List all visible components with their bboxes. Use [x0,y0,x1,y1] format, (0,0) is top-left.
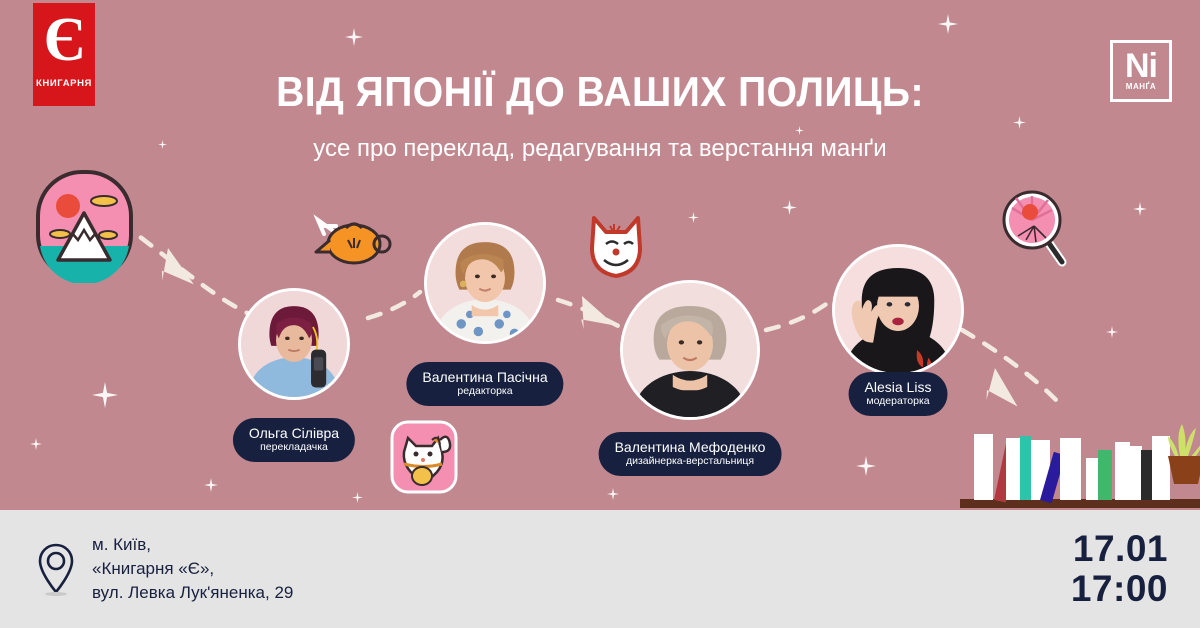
kitsune-mask-sticker [584,208,648,280]
location-line: вул. Левка Лук'яненка, 29 [92,581,293,605]
location-line: «Книгарня «Є», [92,557,293,581]
location-text: м. Київ, «Книгарня «Є», вул. Левка Лук'я… [92,533,293,605]
footer-bar: м. Київ, «Книгарня «Є», вул. Левка Лук'я… [0,510,1200,628]
sparkle-icon [204,478,218,492]
location-line: м. Київ, [92,533,293,557]
location-block: м. Київ, «Книгарня «Є», вул. Левка Лук'я… [36,533,293,605]
name-badge: Валентина Мефоденко дизайнерка-верстальн… [599,432,782,476]
person-name: Валентина Пасічна [422,369,547,385]
person-card: Валентина Пасічна редакторка [424,222,546,344]
sparkle-icon [938,14,958,34]
sparkle-icon [345,28,363,46]
maneki-neko-sticker [388,418,460,496]
avatar [238,288,350,400]
name-badge: Alesia Liss модераторка [849,372,948,416]
bookshelf [960,400,1200,512]
person-role: перекладачка [249,441,339,454]
portrait-image [623,283,757,417]
avatar [424,222,546,344]
event-time: 17:00 [1071,569,1168,609]
sparkle-icon [1133,202,1147,216]
person-card: Ольга Сілівра перекладачка [238,288,350,400]
paper-plane-icon [151,248,203,297]
sparkle-icon [30,438,42,450]
book [1115,442,1130,500]
sparkle-icon [1013,116,1026,129]
sparkle-icon [782,200,797,215]
person-role: дизайнерка-верстальниця [615,455,766,468]
uchiwa-fan-sticker [1000,186,1074,268]
portrait-image [835,247,961,373]
sparkle-icon [1106,326,1118,338]
book [1098,450,1112,500]
person-name: Ольга Сілівра [249,425,339,441]
sparkle-icon [856,456,876,476]
book [974,434,993,500]
page-title: ВІД ЯПОНІЇ ДО ВАШИХ ПОЛИЦЬ: [42,68,1158,116]
event-poster: Є КНИГАРНЯ Ni МАНҐА ВІД ЯПОНІЇ ДО ВАШИХ … [0,0,1200,628]
sparkle-icon [92,382,118,408]
page-subtitle: усе про переклад, редагування та верстан… [0,135,1200,163]
name-badge: Валентина Пасічна редакторка [406,362,563,406]
name-badge: Ольга Сілівра перекладачка [233,418,355,462]
portrait-image [241,291,347,397]
sparkle-icon [795,126,804,135]
potted-plant-icon [1166,422,1200,500]
person-role: модераторка [865,395,932,408]
portrait-image [427,225,543,341]
person-card: Валентина Мефоденко дизайнерка-верстальн… [620,280,760,420]
person-card: Alesia Liss модераторка [832,244,964,376]
map-pin-icon [36,542,76,596]
teapot-sticker [312,200,392,270]
paper-plane-icon [571,296,621,340]
book [1060,438,1081,500]
event-date: 17.01 [1071,529,1168,569]
person-role: редакторка [422,385,547,398]
person-name: Alesia Liss [865,379,932,395]
mount-fuji-sticker [32,168,137,283]
book [1020,436,1031,500]
sparkle-icon [607,488,619,500]
date-time-block: 17.01 17:00 [1071,529,1168,609]
avatar [620,280,760,420]
avatar [832,244,964,376]
sparkle-icon [688,212,699,223]
person-name: Валентина Мефоденко [615,439,766,455]
logo-glyph: Є [43,9,84,71]
sparkle-icon [352,492,363,503]
